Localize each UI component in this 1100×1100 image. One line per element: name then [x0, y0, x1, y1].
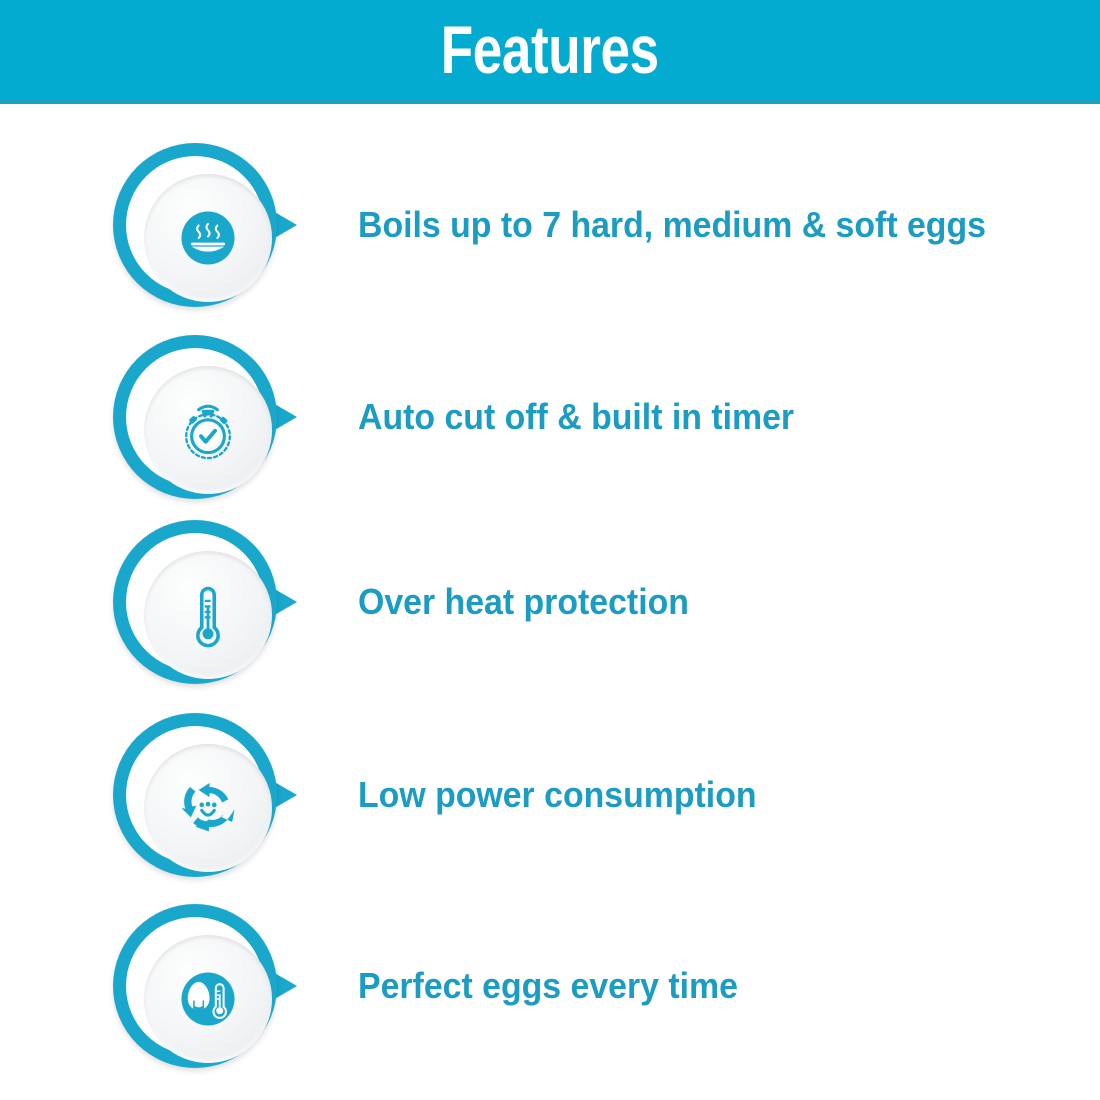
badge-gap-ring — [126, 726, 264, 864]
feature-label: Low power consumption — [358, 775, 757, 815]
badge-inner-disc — [144, 366, 272, 494]
list-item[interactable]: Over heat protection — [0, 506, 1100, 698]
feature-label: Perfect eggs every time — [358, 966, 738, 1006]
list-item[interactable]: Low power consumption — [0, 699, 1100, 891]
badge-inner-disc — [144, 551, 272, 679]
stopwatch-check-icon — [169, 391, 247, 469]
steaming-bowl-icon — [169, 199, 247, 277]
thermometer-icon — [169, 576, 247, 654]
page-header: Features — [0, 0, 1100, 104]
badge-inner-disc — [144, 174, 272, 302]
page-title: Features — [441, 16, 659, 84]
badge-outer-ring — [113, 335, 277, 499]
list-item[interactable]: Boils up to 7 hard, medium & soft eggs — [0, 129, 1100, 321]
feature-badge — [113, 333, 323, 501]
badge-gap-ring — [126, 917, 264, 1055]
feature-label: Over heat protection — [358, 582, 689, 622]
feature-badge — [113, 518, 323, 686]
features-list: Boils up to 7 hard, medium & soft eggs — [0, 104, 1100, 1100]
egg-thermometer-icon — [169, 960, 247, 1038]
badge-gap-ring — [126, 348, 264, 486]
badge-outer-ring — [113, 520, 277, 684]
list-item[interactable]: Perfect eggs every time — [0, 890, 1100, 1082]
badge-inner-disc — [144, 935, 272, 1063]
badge-outer-ring — [113, 713, 277, 877]
feature-badge — [113, 711, 323, 879]
features-page: Features — [0, 0, 1100, 1100]
list-item[interactable]: Auto cut off & built in timer — [0, 321, 1100, 513]
badge-gap-ring — [126, 156, 264, 294]
feature-label: Auto cut off & built in timer — [358, 397, 794, 437]
badge-outer-ring — [113, 143, 277, 307]
badge-gap-ring — [126, 533, 264, 671]
feature-badge — [113, 902, 323, 1070]
badge-outer-ring — [113, 904, 277, 1068]
badge-inner-disc — [144, 744, 272, 872]
feature-label: Boils up to 7 hard, medium & soft eggs — [358, 205, 986, 245]
recycle-arrows-icon — [169, 769, 247, 847]
feature-badge — [113, 141, 323, 309]
